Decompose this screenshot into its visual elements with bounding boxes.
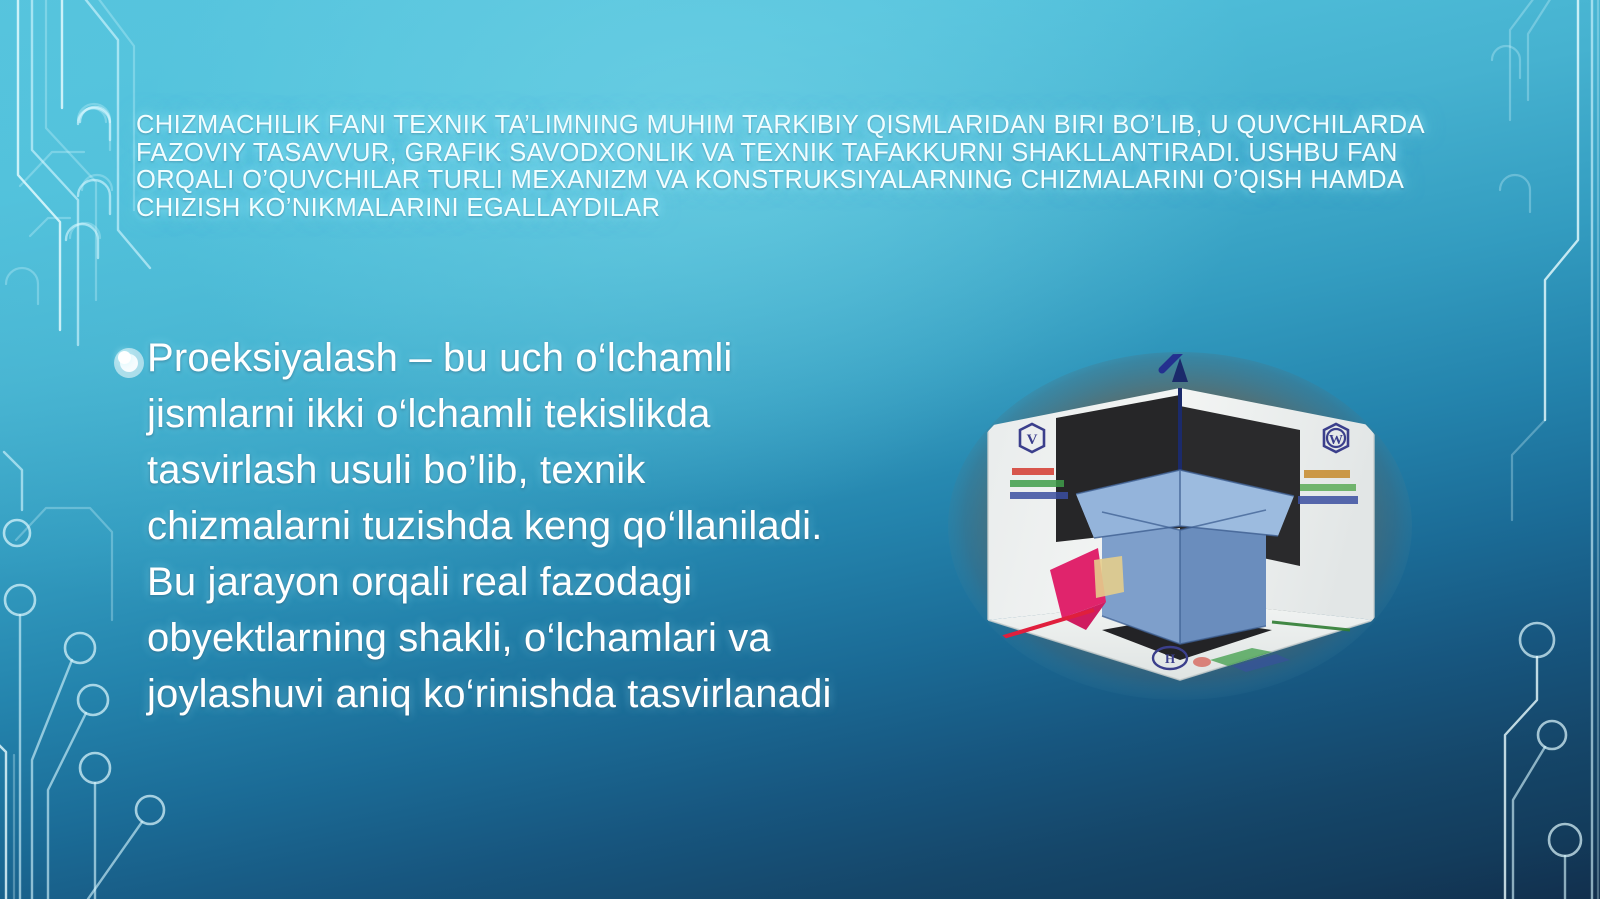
- slide-body: Proeksiyalash – bu uch o‘lchamli jismlar…: [118, 330, 858, 722]
- presentation-slide: CHIZMACHILIK FANI TEXNIK TA’LIMNING MUHI…: [0, 0, 1600, 899]
- bullet-text: Proeksiyalash – bu uch o‘lchamli jismlar…: [147, 330, 858, 722]
- slide-title: CHIZMACHILIK FANI TEXNIK TA’LIMNING MUHI…: [136, 112, 1500, 222]
- axis-x-arrow: [972, 636, 994, 652]
- svg-text:V: V: [1027, 432, 1038, 448]
- list-item: Proeksiyalash – bu uch o‘lchamli jismlar…: [118, 330, 858, 722]
- bullet-marker-icon: [118, 351, 131, 364]
- svg-text:W: W: [1329, 433, 1343, 448]
- svg-text:H: H: [1165, 651, 1175, 666]
- marker-yellow: [1094, 556, 1124, 598]
- badge-w: W: [1324, 424, 1348, 452]
- projection-model-illustration: V W H: [880, 330, 1480, 730]
